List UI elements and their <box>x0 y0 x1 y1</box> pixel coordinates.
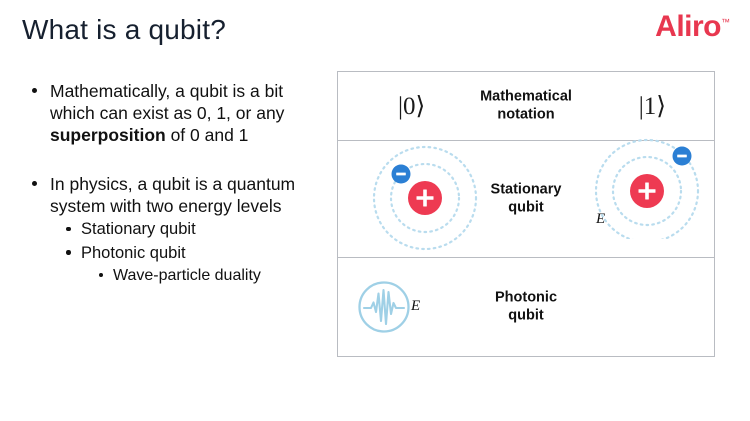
list-item: Wave-particle duality <box>97 266 324 287</box>
aliro-logo: Aliro™ <box>655 12 730 42</box>
sub-bullet-text: Photonic qubit <box>81 244 186 262</box>
list-item: Photonic qubit Wave-particle duality <box>64 243 324 287</box>
bullet-text-part-1: Mathematically, a qubit is a bit which c… <box>50 81 284 123</box>
bullet-text-bold: superposition <box>50 125 166 145</box>
row-label-photonic-qubit: Photonic qubit <box>495 289 557 324</box>
bullet-list: Mathematically, a qubit is a bit which c… <box>28 80 324 287</box>
ket-one-symbol: |1⟩ <box>639 91 666 121</box>
photon-wavepacket-icon <box>357 280 411 334</box>
page-title: What is a qubit? <box>22 14 226 46</box>
bullet-dot-icon <box>66 250 71 255</box>
table-row-photonic-qubit: E Photonic qubit <box>338 258 714 356</box>
table-row-stationary-qubit: Stationary qubit E <box>338 141 714 258</box>
bullet-dot-icon <box>32 88 37 93</box>
list-item: In physics, a qubit is a quantum system … <box>28 173 324 287</box>
sub-sub-bullet-text: Wave-particle duality <box>113 267 261 284</box>
bullet-dot-icon <box>99 273 103 277</box>
list-item: Stationary qubit <box>64 219 324 240</box>
ket-zero-symbol: |0⟩ <box>398 91 425 121</box>
energy-label-photonic: E <box>411 298 420 315</box>
list-item: Mathematically, a qubit is a bit which c… <box>28 80 324 147</box>
atom-ground-state-icon <box>370 143 480 253</box>
bullet-dot-icon <box>66 227 71 232</box>
qubit-diagram-table: |0⟩ Mathematical notation |1⟩ Stationary… <box>337 71 715 357</box>
logo-wordmark: Aliro <box>655 10 721 43</box>
bullet-text-part-2: of 0 and 1 <box>166 125 249 145</box>
row-label-stationary-qubit: Stationary qubit <box>491 181 562 216</box>
trademark-symbol: ™ <box>721 17 730 27</box>
bullet-text: In physics, a qubit is a quantum system … <box>50 174 295 216</box>
atom-excited-state-icon <box>592 129 702 239</box>
sub-bullet-text: Stationary qubit <box>81 220 196 238</box>
bullet-dot-icon <box>32 181 37 186</box>
row-label-mathematical-notation: Mathematical notation <box>480 88 572 123</box>
